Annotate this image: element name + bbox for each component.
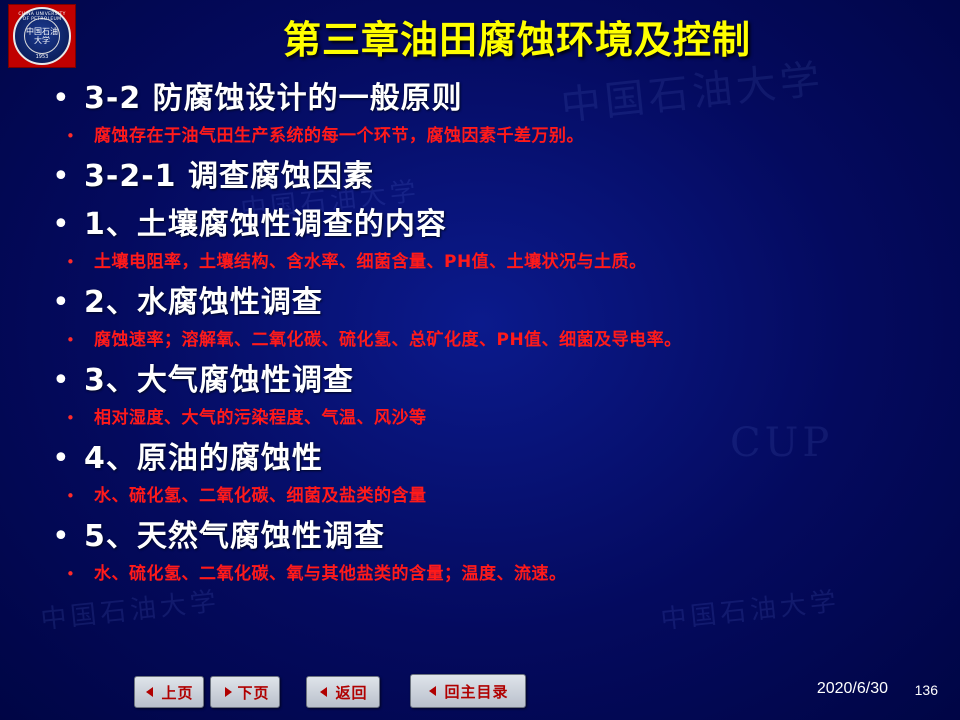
list-item: • 3-2 防腐蚀设计的一般原则 <box>52 78 932 120</box>
bullet-icon: • <box>52 282 84 324</box>
bullet-icon: • <box>52 516 84 558</box>
list-item-text: 3-2-1 调查腐蚀因素 <box>84 156 374 198</box>
seal-center-text: 中国石油大学 <box>24 18 60 54</box>
list-item-text: 1、土壤腐蚀性调查的内容 <box>84 204 447 246</box>
list-item: • 土壤电阻率，土壤结构、含水率、细菌含量、PH值、土壤状况与土质。 <box>52 248 932 276</box>
list-item-text: 5、天然气腐蚀性调查 <box>84 516 385 558</box>
list-item-text: 水、硫化氢、二氧化碳、细菌及盐类的含量 <box>94 482 427 510</box>
slide-date: 2020/6/30 <box>817 680 888 698</box>
list-item-text: 腐蚀速率；溶解氧、二氧化碳、硫化氢、总矿化度、PH值、细菌及导电率。 <box>94 326 682 354</box>
list-item: • 3、大气腐蚀性调查 <box>52 360 932 402</box>
back-button[interactable]: 返回 <box>306 676 380 708</box>
home-arrow-icon <box>427 685 441 697</box>
bullet-icon: • <box>52 482 94 510</box>
list-item: • 相对湿度、大气的污染程度、气温、风沙等 <box>52 404 932 432</box>
list-item-text: 土壤电阻率，土壤结构、含水率、细菌含量、PH值、土壤状况与土质。 <box>94 248 647 276</box>
prev-page-button[interactable]: 上页 <box>134 676 204 708</box>
list-item: • 4、原油的腐蚀性 <box>52 438 932 480</box>
bullet-icon: • <box>52 438 84 480</box>
bullet-icon: • <box>52 404 94 432</box>
seal-arc-text: CHINA UNIVERSITY OF PETROLEUM <box>15 12 69 22</box>
list-item-text: 4、原油的腐蚀性 <box>84 438 323 480</box>
list-item: • 2、水腐蚀性调查 <box>52 282 932 324</box>
bullet-icon: • <box>52 156 84 198</box>
next-page-button[interactable]: 下页 <box>210 676 280 708</box>
title-bar: 第三章油田腐蚀环境及控制 <box>74 6 960 66</box>
bullet-icon: • <box>52 122 94 150</box>
list-item-text: 水、硫化氢、二氧化碳、氧与其他盐类的含量；温度、流速。 <box>94 560 567 588</box>
bullet-icon: • <box>52 204 84 246</box>
back-arrow-icon <box>318 686 332 698</box>
back-label: 返回 <box>335 682 367 703</box>
list-item: • 1、土壤腐蚀性调查的内容 <box>52 204 932 246</box>
list-item-text: 3-2 防腐蚀设计的一般原则 <box>84 78 463 120</box>
home-menu-button[interactable]: 回主目录 <box>410 674 526 708</box>
right-arrow-icon <box>220 686 234 698</box>
next-page-label: 下页 <box>237 682 269 703</box>
list-item: • 水、硫化氢、二氧化碳、细菌及盐类的含量 <box>52 482 932 510</box>
bullet-icon: • <box>52 78 84 120</box>
list-item-text: 相对湿度、大气的污染程度、气温、风沙等 <box>94 404 427 432</box>
seal-year-text: 1953 <box>15 54 69 60</box>
list-item-text: 3、大气腐蚀性调查 <box>84 360 354 402</box>
bullet-icon: • <box>52 326 94 354</box>
page-title: 第三章油田腐蚀环境及控制 <box>283 9 751 64</box>
bullet-icon: • <box>52 248 94 276</box>
slide-page-number: 136 <box>915 682 938 698</box>
list-item: • 5、天然气腐蚀性调查 <box>52 516 932 558</box>
bullet-icon: • <box>52 360 84 402</box>
slide-content: • 3-2 防腐蚀设计的一般原则 • 腐蚀存在于油气田生产系统的每一个环节，腐蚀… <box>52 78 932 592</box>
slide: 中国石油大学 中国石油大学 CUP 中国石油大学 中国石油大学 CHINA UN… <box>0 0 960 720</box>
list-item: • 水、硫化氢、二氧化碳、氧与其他盐类的含量；温度、流速。 <box>52 560 932 588</box>
bullet-icon: • <box>52 560 94 588</box>
left-arrow-icon <box>144 686 158 698</box>
slide-header: CHINA UNIVERSITY OF PETROLEUM 中国石油大学 195… <box>0 0 960 72</box>
seal-icon: CHINA UNIVERSITY OF PETROLEUM 中国石油大学 195… <box>13 7 71 65</box>
prev-page-label: 上页 <box>161 682 193 703</box>
list-item-text: 腐蚀存在于油气田生产系统的每一个环节，腐蚀因素千差万别。 <box>94 122 584 150</box>
home-menu-label: 回主目录 <box>444 681 508 702</box>
list-item: • 3-2-1 调查腐蚀因素 <box>52 156 932 198</box>
list-item-text: 2、水腐蚀性调查 <box>84 282 323 324</box>
list-item: • 腐蚀速率；溶解氧、二氧化碳、硫化氢、总矿化度、PH值、细菌及导电率。 <box>52 326 932 354</box>
slide-footer: 上页 下页 返回 回主目录 2020/6/30 136 <box>0 664 960 720</box>
university-logo: CHINA UNIVERSITY OF PETROLEUM 中国石油大学 195… <box>8 4 76 68</box>
list-item: • 腐蚀存在于油气田生产系统的每一个环节，腐蚀因素千差万别。 <box>52 122 932 150</box>
